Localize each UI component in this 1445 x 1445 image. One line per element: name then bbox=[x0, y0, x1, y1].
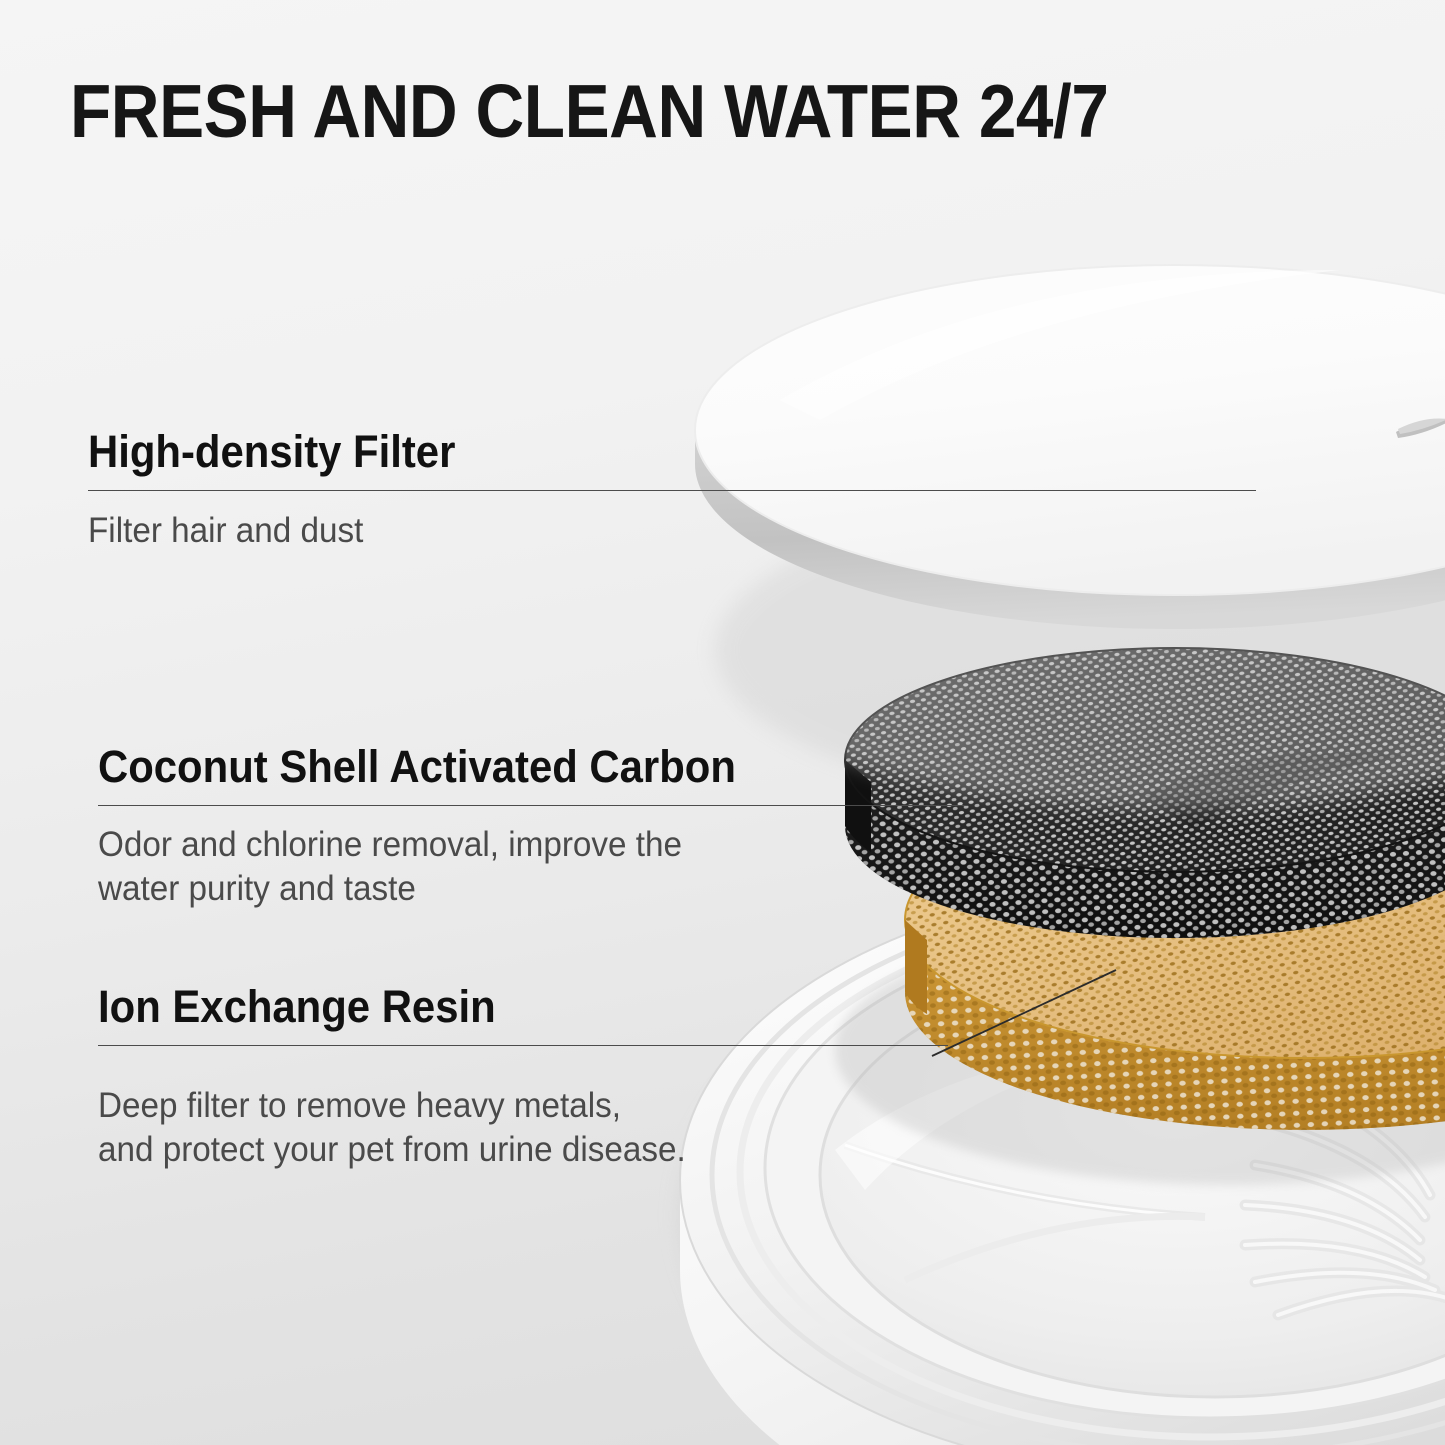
feature-title: Coconut Shell Activated Carbon bbox=[98, 743, 907, 791]
product-feature-graphic: FRESH AND CLEAN WATER 24/7 High-density … bbox=[0, 0, 1445, 1445]
feature-block-activated-carbon: Coconut Shell Activated Carbon Odor and … bbox=[98, 743, 968, 911]
feature-divider bbox=[88, 490, 1256, 491]
product-illustration bbox=[0, 0, 1445, 1445]
feature-title: Ion Exchange Resin bbox=[98, 983, 889, 1031]
feature-divider bbox=[98, 805, 968, 806]
feature-subtitle: Filter hair and dust bbox=[88, 509, 1198, 553]
page-title: FRESH AND CLEAN WATER 24/7 bbox=[70, 72, 1108, 150]
feature-title: High-density Filter bbox=[88, 428, 1174, 476]
feature-block-ion-exchange-resin: Ion Exchange Resin Deep filter to remove… bbox=[98, 983, 948, 1172]
feature-subtitle: Odor and chlorine removal, improve the w… bbox=[98, 823, 925, 911]
feature-leader-line bbox=[930, 960, 1140, 1070]
feature-subtitle: Deep filter to remove heavy metals, and … bbox=[98, 1084, 906, 1172]
feature-block-high-density-filter: High-density Filter Filter hair and dust bbox=[88, 428, 1256, 553]
feature-divider bbox=[98, 1045, 948, 1046]
